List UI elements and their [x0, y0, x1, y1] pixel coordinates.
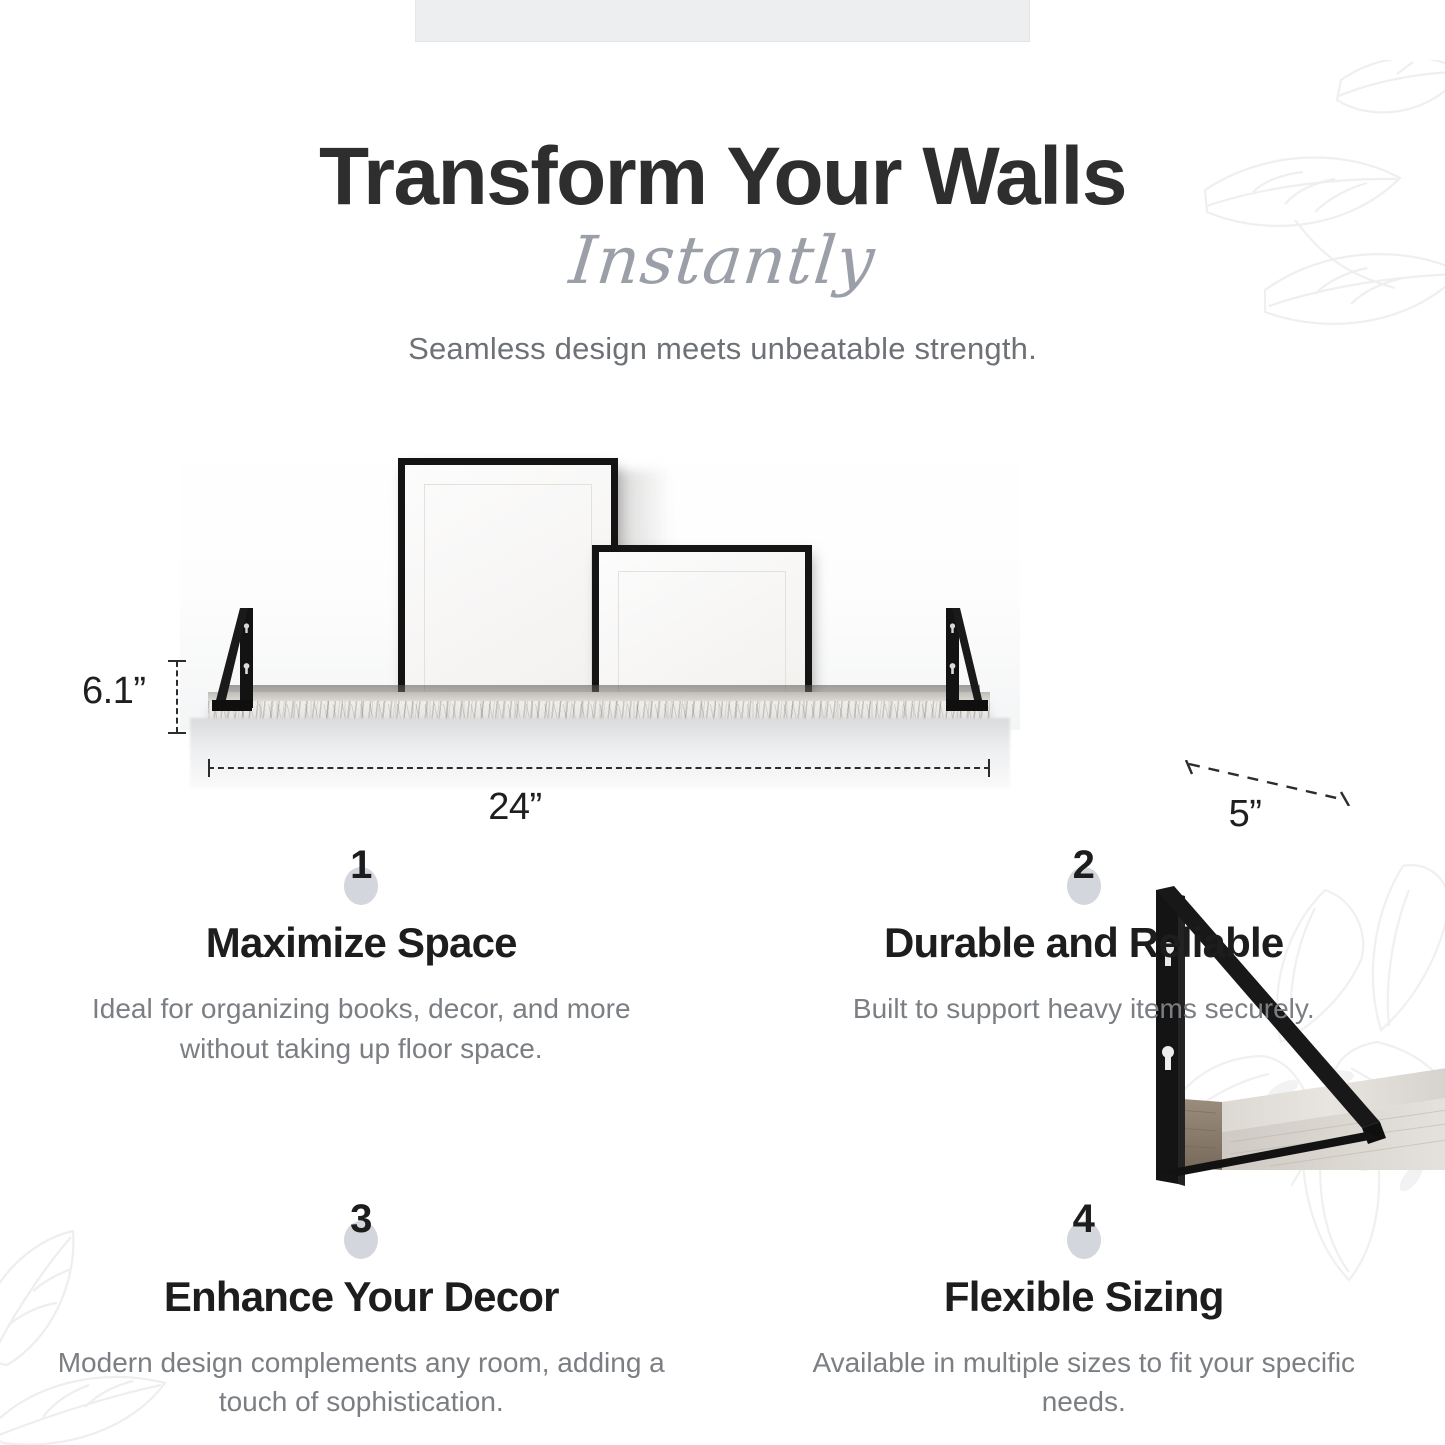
feature-number: 2 — [1073, 845, 1095, 885]
feature-description: Modern design complements any room, addi… — [46, 1343, 677, 1423]
height-dimension-line — [176, 655, 178, 739]
features-row-2: 3 Enhance Your Decor Modern design compl… — [0, 1069, 1445, 1423]
feature-card-4: 4 Flexible Sizing Available in multiple … — [723, 1069, 1445, 1423]
infographic-page: Transform Your Walls Instantly Seamless … — [0, 0, 1445, 1445]
height-dimension-label: 6.1” — [82, 670, 145, 713]
feature-title: Flexible Sizing — [769, 1273, 1400, 1321]
feature-card-3: 3 Enhance Your Decor Modern design compl… — [0, 1069, 723, 1423]
feature-title: Durable and Reliable — [769, 919, 1400, 967]
feature-number: 3 — [350, 1199, 372, 1239]
feature-title: Enhance Your Decor — [46, 1273, 677, 1321]
features-grid: 1 Maximize Space Ideal for organizing bo… — [0, 845, 1445, 1422]
features-row-1: 1 Maximize Space Ideal for organizing bo… — [0, 845, 1445, 1069]
frame-inner-border — [424, 484, 592, 707]
feature-number-badge: 1 — [46, 845, 677, 907]
feature-title: Maximize Space — [46, 919, 677, 967]
shelf-bracket-right-icon — [928, 608, 990, 728]
shelf-bracket-left-icon — [210, 608, 272, 728]
feature-card-1: 1 Maximize Space Ideal for organizing bo… — [0, 845, 723, 1069]
page-subtitle: Seamless design meets unbeatable strengt… — [0, 331, 1445, 367]
feature-number: 1 — [350, 845, 372, 885]
dimension-cap-bottom — [168, 732, 186, 734]
page-title: Transform Your Walls — [0, 136, 1445, 218]
feature-number: 4 — [1073, 1199, 1095, 1239]
shelf-product-photo — [180, 430, 1020, 800]
feature-description: Available in multiple sizes to fit your … — [769, 1343, 1400, 1423]
page-title-script: Instantly — [0, 222, 1445, 299]
depth-dimension-label: 5” — [1190, 793, 1300, 836]
dimension-cap-right — [988, 759, 990, 777]
width-dimension-label: 24” — [0, 786, 1030, 829]
dimension-dashed-line — [208, 767, 990, 769]
shelf-board-top-surface — [208, 692, 990, 701]
dimension-dashed-line — [176, 661, 178, 733]
width-dimension-line — [208, 767, 990, 769]
feature-number-badge: 4 — [769, 1199, 1400, 1261]
top-banner-strip — [415, 0, 1030, 42]
feature-card-2: 2 Durable and Reliable Built to support … — [723, 845, 1445, 1069]
feature-number-badge: 3 — [46, 1199, 677, 1261]
feature-description: Built to support heavy items securely. — [769, 989, 1400, 1029]
feature-number-badge: 2 — [769, 845, 1400, 907]
feature-description: Ideal for organizing books, decor, and m… — [46, 989, 677, 1069]
shelf-drop-shadow — [190, 718, 1010, 788]
